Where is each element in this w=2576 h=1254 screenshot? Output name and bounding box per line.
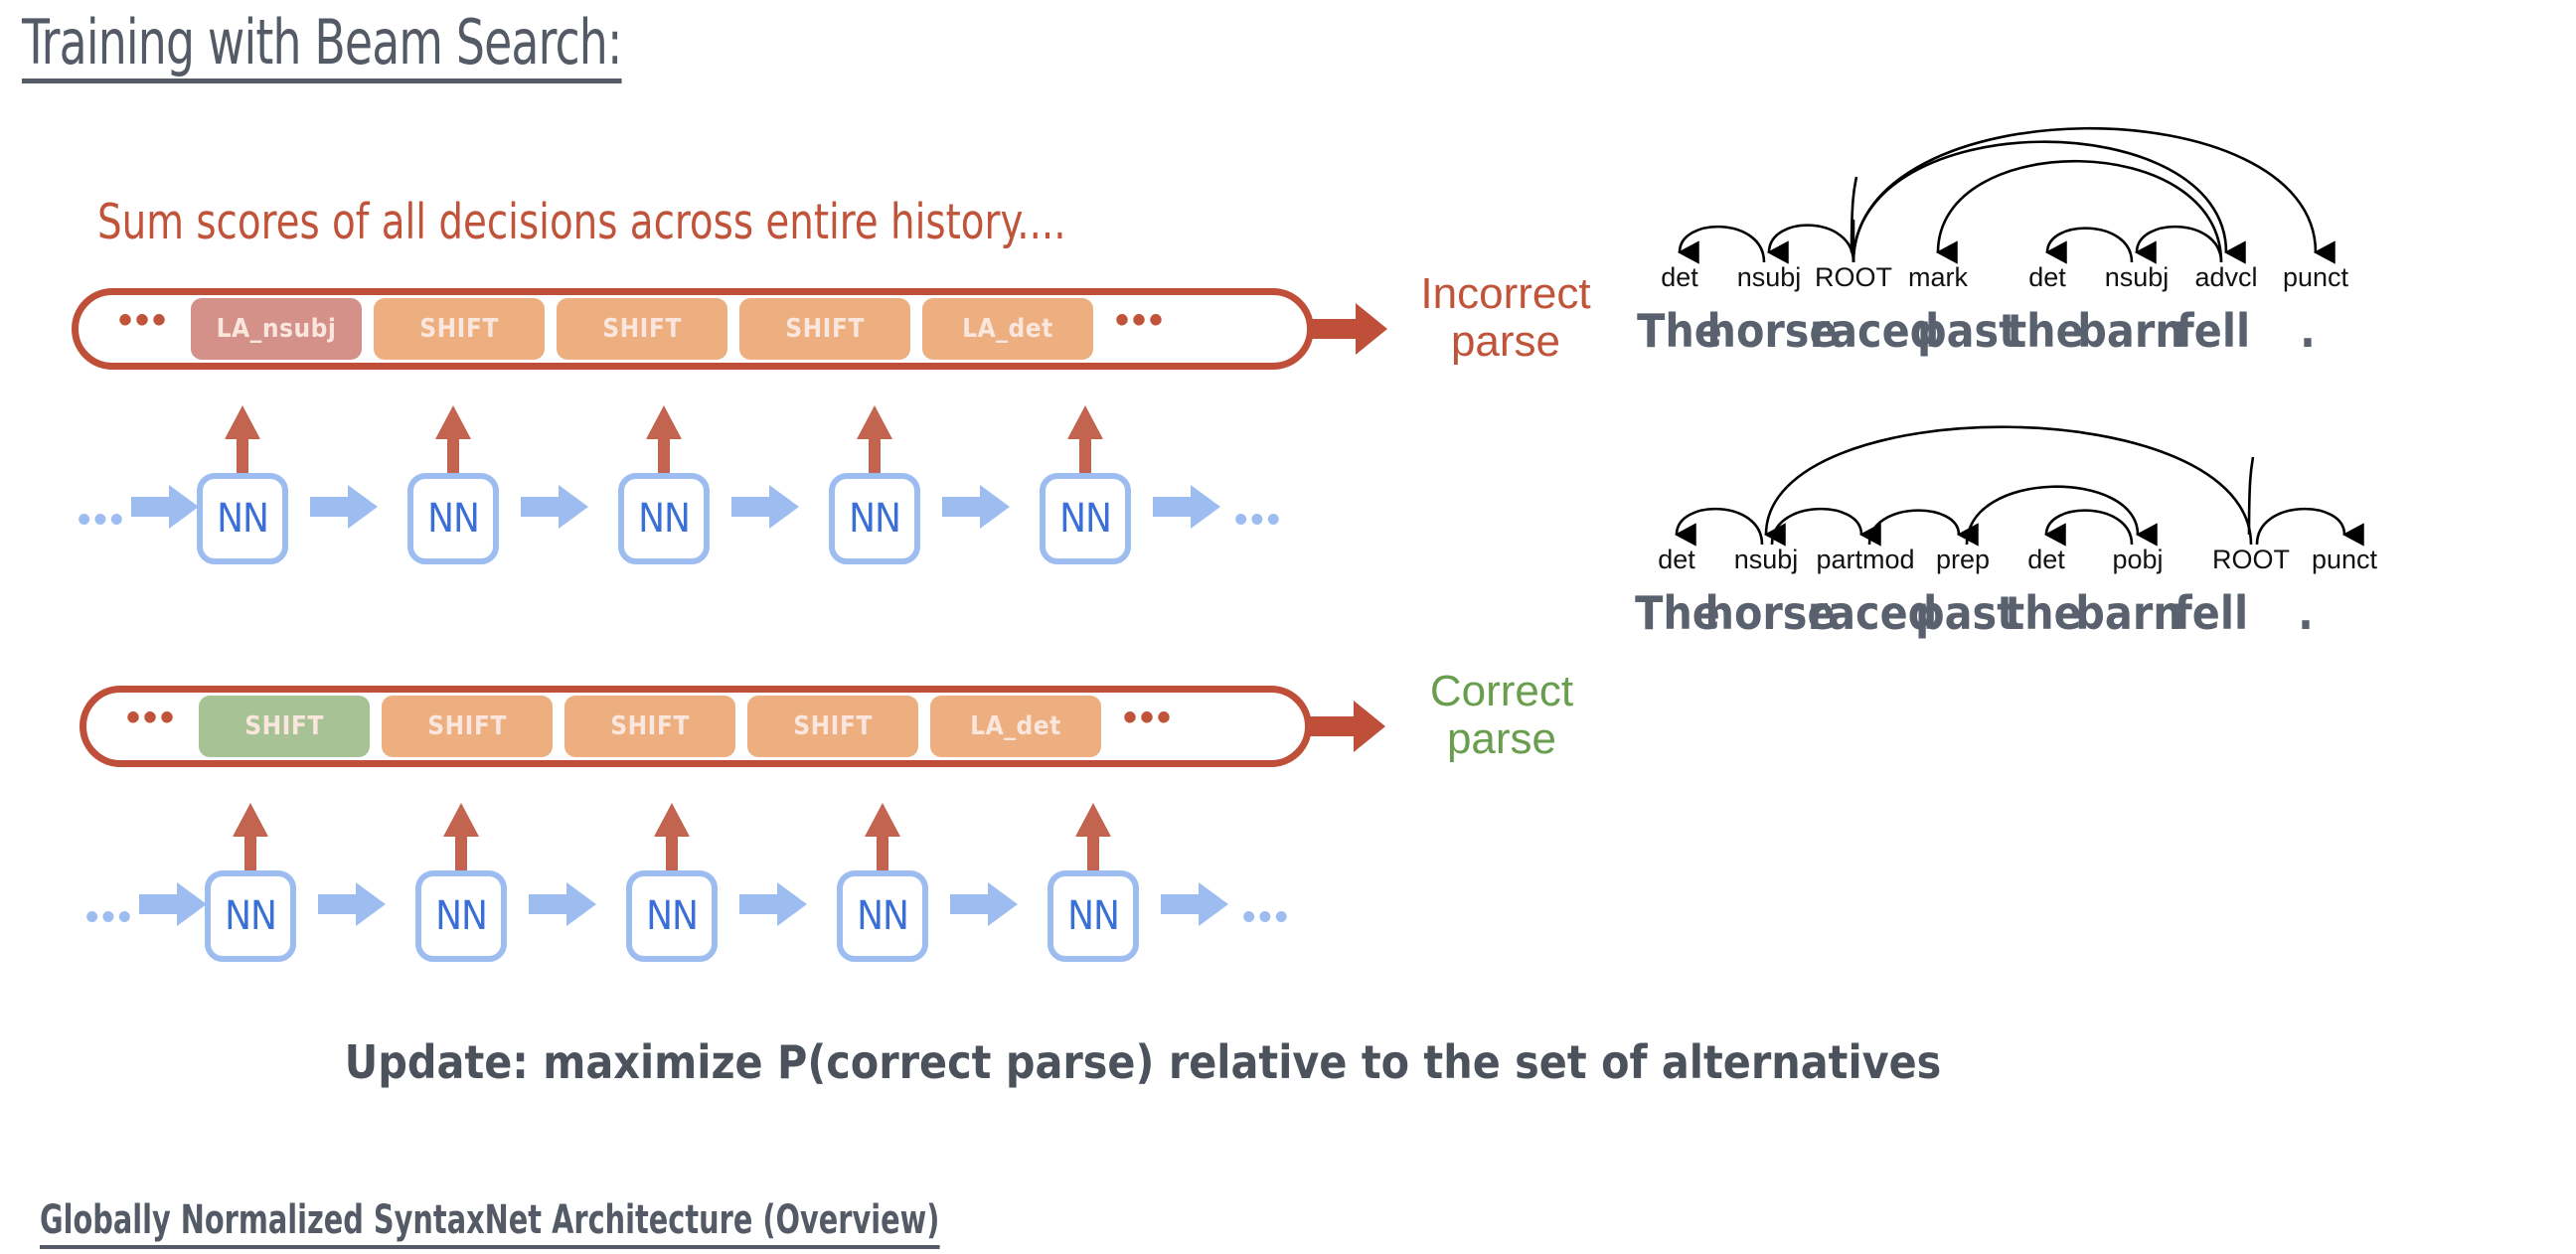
dependency-labels-incorrect: det nsubj ROOT mark det nsubj advcl punc…	[1640, 262, 2534, 302]
nn-node[interactable]: NN	[415, 870, 507, 962]
dep-label: det	[2028, 262, 2066, 293]
action-chip[interactable]: SHIFT	[557, 298, 727, 360]
sentence-word: .	[2298, 586, 2314, 640]
dep-label: nsubj	[1737, 262, 1802, 293]
nn-chain-correct: ••• NN NN NN NN NN •••	[68, 795, 1379, 994]
leading-ellipsis-icon: •••	[102, 300, 185, 358]
dependency-tree-correct: det nsubj partmod prep det pobj ROOT pun…	[1635, 350, 2529, 608]
dep-label: ROOT	[2212, 545, 2290, 575]
dep-label: det	[1661, 262, 1698, 293]
dep-label: mark	[1908, 262, 1968, 293]
dep-label: det	[1658, 545, 1695, 575]
update-caption: Update: maximize P(correct parse) relati…	[0, 1035, 2286, 1089]
footer-caption: Globally Normalized SyntaxNet Architectu…	[40, 1197, 939, 1249]
page-title: Training with Beam Search:	[22, 10, 622, 83]
dep-label: nsubj	[2105, 262, 2170, 293]
action-chip[interactable]: SHIFT	[747, 696, 918, 757]
correct-parse-line2: parse	[1377, 715, 1626, 763]
leading-ellipsis-icon: •••	[110, 698, 193, 755]
action-chip[interactable]: SHIFT	[374, 298, 545, 360]
nn-node[interactable]: NN	[1040, 473, 1131, 564]
sentence-word: the	[2005, 586, 2081, 640]
nn-node[interactable]: NN	[829, 473, 920, 564]
trailing-ellipsis-icon: •••	[1099, 300, 1182, 358]
nn-trailing-ellipsis-icon: •••	[1242, 898, 1291, 936]
action-chip[interactable]: SHIFT	[382, 696, 553, 757]
incorrect-parse-line2: parse	[1381, 318, 1630, 366]
action-chip[interactable]: SHIFT	[564, 696, 735, 757]
incorrect-parse-label: Incorrect parse	[1381, 270, 1630, 365]
sentence-word: past	[1915, 586, 2016, 640]
nn-node[interactable]: NN	[1047, 870, 1139, 962]
nn-node[interactable]: NN	[205, 870, 296, 962]
nn-node[interactable]: NN	[407, 473, 499, 564]
decision-sequence-incorrect: ••• LA_nsubj SHIFT SHIFT SHIFT LA_det ••…	[72, 288, 1314, 370]
nn-trailing-ellipsis-icon: •••	[1234, 501, 1283, 539]
sentence-word: fell	[2174, 586, 2248, 640]
dependency-labels-correct: det nsubj partmod prep det pobj ROOT pun…	[1635, 545, 2529, 584]
arrow-to-incorrect-parse-icon	[1310, 301, 1387, 357]
dep-label: partmod	[1816, 545, 1914, 575]
sentence-correct: The horse raced past the barn fell .	[1635, 586, 2529, 646]
dep-label: prep	[1936, 545, 1990, 575]
dep-label: det	[2027, 545, 2065, 575]
nn-chain-incorrect: ••• NN NN NN NN NN •••	[60, 397, 1371, 596]
action-chip[interactable]: LA_det	[922, 298, 1093, 360]
dep-label: punct	[2283, 262, 2348, 293]
dep-label: nsubj	[1734, 545, 1799, 575]
sentence-word: barn	[2075, 586, 2181, 640]
arrow-to-correct-parse-icon	[1308, 699, 1385, 754]
dep-label: ROOT	[1815, 262, 1892, 293]
action-chip[interactable]: LA_det	[930, 696, 1101, 757]
correct-parse-label: Correct parse	[1377, 668, 1626, 762]
decision-sequence-correct: ••• SHIFT SHIFT SHIFT SHIFT LA_det •••	[80, 686, 1312, 767]
nn-node[interactable]: NN	[626, 870, 718, 962]
dep-label: pobj	[2112, 545, 2163, 575]
incorrect-parse-line1: Incorrect	[1381, 270, 1630, 318]
trailing-ellipsis-icon: •••	[1107, 698, 1190, 755]
action-chip[interactable]: SHIFT	[739, 298, 910, 360]
action-chip[interactable]: SHIFT	[199, 696, 370, 757]
nn-node[interactable]: NN	[197, 473, 288, 564]
sum-scores-annotation: Sum scores of all decisions across entir…	[97, 194, 1066, 250]
nn-node[interactable]: NN	[618, 473, 710, 564]
dep-label: advcl	[2194, 262, 2257, 293]
correct-parse-line1: Correct	[1377, 668, 1626, 715]
dep-label: punct	[2312, 545, 2377, 575]
dependency-tree-incorrect: det nsubj ROOT mark det nsubj advcl punc…	[1640, 68, 2534, 326]
action-chip[interactable]: LA_nsubj	[191, 298, 362, 360]
nn-node[interactable]: NN	[837, 870, 928, 962]
